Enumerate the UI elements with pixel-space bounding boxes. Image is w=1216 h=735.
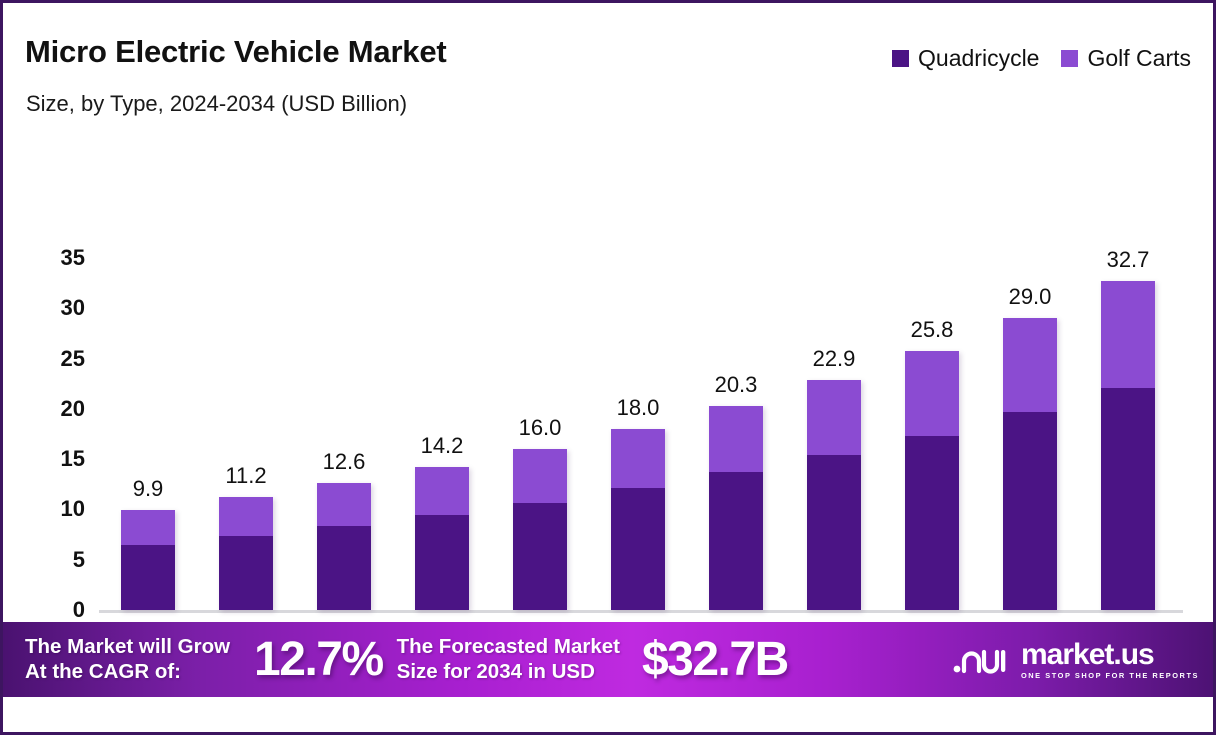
bar-segment-golf-carts[interactable] — [611, 429, 665, 488]
bar-segment-quadricycle[interactable] — [513, 503, 567, 610]
bar-group[interactable]: 18.0 — [611, 153, 665, 613]
bar-value-label: 22.9 — [813, 346, 856, 372]
y-axis: 05101520253035 — [3, 153, 99, 613]
bar-group[interactable]: 16.0 — [513, 153, 567, 613]
stacked-bar[interactable] — [1003, 318, 1057, 610]
bar-value-label: 12.6 — [323, 449, 366, 475]
bar-segment-golf-carts[interactable] — [709, 406, 763, 472]
brand-logo: market.us ONE STOP SHOP FOR THE REPORTS — [953, 640, 1199, 679]
cagr-value: 12.7% — [254, 636, 383, 684]
brand-name: market.us — [1021, 640, 1199, 670]
stacked-bar[interactable] — [317, 483, 371, 610]
chart-infographic: Micro Electric Vehicle Market Size, by T… — [0, 0, 1216, 735]
bar-value-label: 25.8 — [911, 317, 954, 343]
bar-value-label: 29.0 — [1009, 284, 1052, 310]
forecast-caption: The Forecasted Market Size for 2034 in U… — [397, 635, 620, 683]
bar-segment-golf-carts[interactable] — [415, 467, 469, 515]
bar-segment-golf-carts[interactable] — [513, 449, 567, 503]
chart-header: Micro Electric Vehicle Market Size, by T… — [3, 3, 1213, 143]
bar-segment-quadricycle[interactable] — [709, 472, 763, 610]
bar-group[interactable]: 9.9 — [121, 153, 175, 613]
forecast-caption-line1: The Forecasted Market — [397, 635, 620, 658]
bar-segment-quadricycle[interactable] — [219, 536, 273, 610]
stacked-bar[interactable] — [905, 351, 959, 610]
cagr-caption-line1: The Market will Grow — [25, 635, 230, 658]
bar-segment-quadricycle[interactable] — [1003, 412, 1057, 610]
stacked-bar[interactable] — [513, 449, 567, 610]
legend-swatch-icon — [892, 50, 909, 67]
y-axis-tick-label: 30 — [61, 295, 85, 321]
bar-segment-quadricycle[interactable] — [317, 526, 371, 610]
cagr-caption-line2: At the CAGR of: — [25, 660, 181, 683]
stacked-bar[interactable] — [709, 406, 763, 610]
bar-segment-quadricycle[interactable] — [611, 488, 665, 610]
bar-segment-quadricycle[interactable] — [807, 455, 861, 610]
chart-legend: QuadricycleGolf Carts — [892, 45, 1191, 72]
legend-label: Quadricycle — [918, 45, 1039, 72]
bar-value-label: 32.7 — [1107, 247, 1150, 273]
bar-value-label: 16.0 — [519, 415, 562, 441]
forecast-caption-line2: Size for 2034 in USD — [397, 660, 595, 683]
bar-segment-quadricycle[interactable] — [905, 436, 959, 610]
stacked-bar[interactable] — [219, 497, 273, 610]
legend-item-golf-carts[interactable]: Golf Carts — [1061, 45, 1191, 72]
forecast-value: $32.7B — [642, 636, 788, 684]
legend-item-quadricycle[interactable]: Quadricycle — [892, 45, 1039, 72]
stacked-bar[interactable] — [807, 380, 861, 610]
bar-value-label: 9.9 — [133, 476, 164, 502]
brand-text: market.us ONE STOP SHOP FOR THE REPORTS — [1021, 640, 1199, 679]
bar-value-label: 14.2 — [421, 433, 464, 459]
bars-container: 9.911.212.614.216.018.020.322.925.829.03… — [99, 153, 1183, 613]
cagr-caption: The Market will Grow At the CAGR of: — [25, 635, 230, 683]
page-title: Micro Electric Vehicle Market — [25, 34, 447, 70]
bar-group[interactable]: 12.6 — [317, 153, 371, 613]
bar-value-label: 18.0 — [617, 395, 660, 421]
stacked-bar[interactable] — [1101, 281, 1155, 610]
y-axis-tick-label: 15 — [61, 446, 85, 472]
summary-banner: The Market will Grow At the CAGR of: 12.… — [3, 622, 1213, 697]
chart-plot-area: 05101520253035 9.911.212.614.216.018.020… — [3, 153, 1213, 613]
bar-segment-quadricycle[interactable] — [121, 545, 175, 610]
brand-tagline: ONE STOP SHOP FOR THE REPORTS — [1021, 672, 1199, 679]
market-us-logo-icon — [953, 643, 1009, 677]
bar-group[interactable]: 32.7 — [1101, 153, 1155, 613]
bar-segment-golf-carts[interactable] — [317, 483, 371, 525]
page-subtitle: Size, by Type, 2024-2034 (USD Billion) — [26, 91, 407, 117]
y-axis-tick-label: 0 — [73, 597, 85, 623]
legend-swatch-icon — [1061, 50, 1078, 67]
bar-group[interactable]: 14.2 — [415, 153, 469, 613]
bar-group[interactable]: 11.2 — [219, 153, 273, 613]
y-axis-tick-label: 5 — [73, 547, 85, 573]
stacked-bar[interactable] — [415, 467, 469, 610]
stacked-bar[interactable] — [611, 429, 665, 610]
y-axis-tick-label: 10 — [61, 496, 85, 522]
bar-value-label: 11.2 — [225, 463, 266, 489]
bar-segment-quadricycle[interactable] — [415, 515, 469, 610]
bar-group[interactable]: 20.3 — [709, 153, 763, 613]
y-axis-tick-label: 20 — [61, 396, 85, 422]
bar-segment-golf-carts[interactable] — [1101, 281, 1155, 388]
bar-segment-golf-carts[interactable] — [121, 510, 175, 544]
legend-label: Golf Carts — [1087, 45, 1191, 72]
bar-group[interactable]: 22.9 — [807, 153, 861, 613]
y-axis-tick-label: 25 — [61, 346, 85, 372]
bar-value-label: 20.3 — [715, 372, 758, 398]
bar-segment-golf-carts[interactable] — [905, 351, 959, 436]
stacked-bar[interactable] — [121, 510, 175, 610]
bar-segment-quadricycle[interactable] — [1101, 388, 1155, 610]
y-axis-tick-label: 35 — [61, 245, 85, 271]
bar-segment-golf-carts[interactable] — [219, 497, 273, 535]
bar-segment-golf-carts[interactable] — [807, 380, 861, 455]
bar-segment-golf-carts[interactable] — [1003, 318, 1057, 412]
bar-group[interactable]: 29.0 — [1003, 153, 1057, 613]
bar-group[interactable]: 25.8 — [905, 153, 959, 613]
